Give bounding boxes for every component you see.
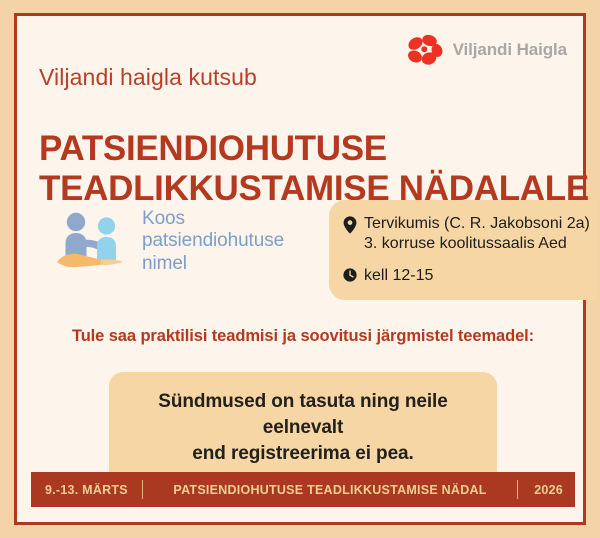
clock-icon <box>343 268 357 282</box>
headline-line-1: PATSIENDIOHUTUSE <box>39 129 579 169</box>
detail-location-line-1: Tervikumis (C. R. Jakobsoni 2a) <box>364 214 590 234</box>
hospital-brand-name: Viljandi Haigla <box>453 40 567 60</box>
detail-location-line-2: 3. korruse koolitussaalis Aed <box>364 234 590 254</box>
hospital-brand: Viljandi Haigla <box>404 33 567 66</box>
footer-divider-right <box>517 480 518 499</box>
detail-row-location: Tervikumis (C. R. Jakobsoni 2a) 3. korru… <box>343 214 587 253</box>
detail-text-location: Tervikumis (C. R. Jakobsoni 2a) 3. korru… <box>364 214 590 253</box>
footer-bar: 9.-13. MÄRTS PATSIENDIOHUTUSE TEADLIKKUS… <box>31 472 575 507</box>
note-line-2: end registreerima ei pea. <box>129 441 477 467</box>
lead-in-text: Tule saa praktilisi teadmisi ja soovitus… <box>19 327 587 346</box>
flower-petal-logo-icon <box>404 33 444 66</box>
footer-year: 2026 <box>532 483 563 497</box>
location-pin-icon <box>343 216 357 234</box>
event-details-box: Tervikumis (C. R. Jakobsoni 2a) 3. korru… <box>329 200 597 300</box>
page-title: PATSIENDIOHUTUSE TEADLIKKUSTAMISE NÄDALA… <box>39 129 579 208</box>
detail-row-time: kell 12-15 <box>343 266 587 286</box>
footer-dates: 9.-13. MÄRTS <box>45 483 128 497</box>
note-line-1: Sündmused on tasuta ning neile eelnevalt <box>129 389 477 441</box>
campaign-logo-text: Koos patsiendiohutuse nimel <box>142 208 284 275</box>
campaign-logo: Koos patsiendiohutuse nimel <box>53 208 284 275</box>
campaign-logo-line-1: Koos <box>142 208 284 230</box>
footer-title: PATSIENDIOHUTUSE TEADLIKKUSTAMISE NÄDAL <box>157 483 503 497</box>
poster-card: Viljandi Haigla Viljandi haigla kutsub P… <box>14 13 586 525</box>
free-entry-note-text: Sündmused on tasuta ning neile eelnevalt… <box>129 389 477 466</box>
detail-time-line-1: kell 12-15 <box>364 266 433 286</box>
poster-card-inner: Viljandi Haigla Viljandi haigla kutsub P… <box>17 16 583 522</box>
free-entry-note-box: Sündmused on tasuta ning neile eelnevalt… <box>109 372 497 485</box>
campaign-logo-line-3: nimel <box>142 253 284 275</box>
kicker-text: Viljandi haigla kutsub <box>39 64 257 91</box>
detail-text-time: kell 12-15 <box>364 266 433 286</box>
two-people-on-hand-icon <box>53 209 135 275</box>
campaign-logo-line-2: patsiendiohutuse <box>142 230 284 252</box>
footer-divider-left <box>142 480 143 499</box>
poster: Viljandi Haigla Viljandi haigla kutsub P… <box>0 0 600 538</box>
